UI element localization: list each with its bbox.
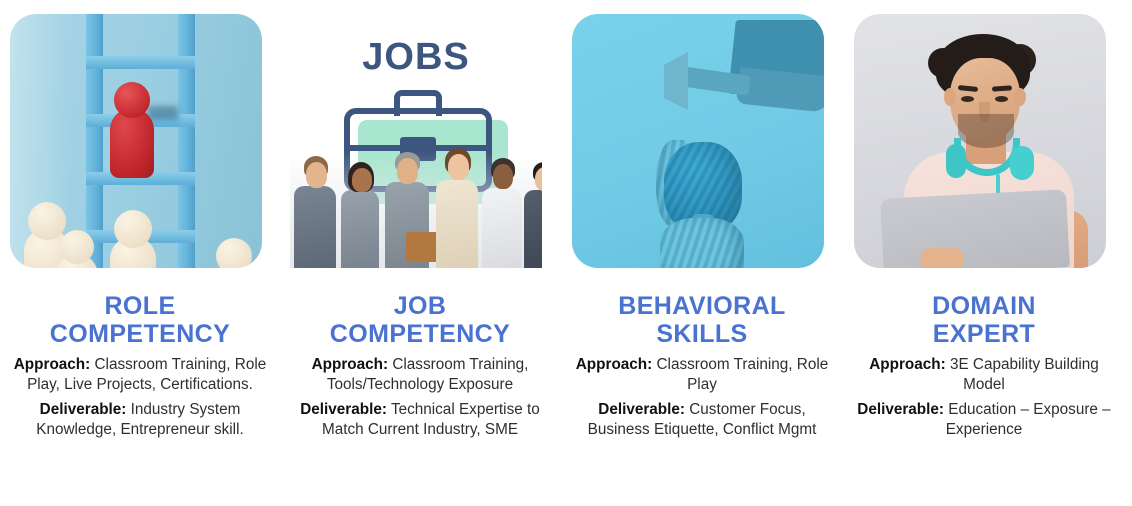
heading-line-1: DOMAIN <box>850 292 1118 320</box>
heading-line-2: EXPERT <box>850 320 1118 348</box>
peg-shadow <box>148 106 178 120</box>
deliverable-label: Deliverable: <box>40 401 127 418</box>
person-head <box>448 154 469 180</box>
column-heading-role-competency: ROLE COMPETENCY <box>6 292 274 348</box>
deliverable-text: Education – Exposure – Experience <box>944 401 1111 438</box>
man-eye <box>961 96 974 102</box>
column-heading-behavioral-skills: BEHAVIORAL SKILLS <box>568 292 836 348</box>
watering-can-brain-photo <box>572 14 824 268</box>
deliverable-paragraph: Deliverable: Education – Exposure – Expe… <box>852 400 1116 440</box>
deliverable-label: Deliverable: <box>857 401 944 418</box>
column-body-job-competency: Approach: Classroom Training, Tools/Tech… <box>288 355 552 445</box>
wood-peg-head <box>114 210 152 248</box>
person-body <box>341 190 379 268</box>
business-people-row <box>290 152 542 268</box>
man-hand <box>920 248 964 268</box>
red-peg-on-ladder-photo <box>10 14 262 268</box>
person-head <box>306 162 327 188</box>
person <box>522 158 542 268</box>
column-body-domain-expert: Approach: 3E Capability Building Model D… <box>852 355 1116 445</box>
approach-paragraph: Approach: Classroom Training, Role Play <box>570 355 834 395</box>
wood-peg-head <box>28 202 66 240</box>
approach-paragraph: Approach: 3E Capability Building Model <box>852 355 1116 395</box>
man-eye <box>995 96 1008 102</box>
deliverable-label: Deliverable: <box>300 401 387 418</box>
man-ear <box>944 88 956 106</box>
heading-line-2: COMPETENCY <box>6 320 274 348</box>
wood-peg-head <box>216 238 252 268</box>
jobs-briefcase-people-graphic: JOBS <box>290 14 542 268</box>
person <box>338 156 382 268</box>
deliverable-paragraph: Deliverable: Industry System Knowledge, … <box>8 400 272 440</box>
heading-line-1: JOB <box>286 292 554 320</box>
red-peg-head <box>114 82 150 118</box>
person <box>292 152 338 268</box>
person-head <box>352 168 372 192</box>
person-head <box>493 164 513 189</box>
person-body <box>482 188 522 268</box>
brain-lower-lobe <box>660 218 744 268</box>
person-head <box>397 158 418 184</box>
red-peg-body <box>110 108 154 178</box>
heading-line-2: COMPETENCY <box>286 320 554 348</box>
heading-line-1: BEHAVIORAL <box>568 292 836 320</box>
deliverable-paragraph: Deliverable: Technical Expertise to Matc… <box>288 400 552 440</box>
approach-label: Approach: <box>14 356 91 373</box>
person-body <box>436 180 478 268</box>
person-body <box>294 186 336 268</box>
skills-framework-infographic: ROLE COMPETENCY Approach: Classroom Trai… <box>0 0 1132 506</box>
watering-can-nozzle <box>664 52 688 110</box>
approach-paragraph: Approach: Classroom Training, Tools/Tech… <box>288 355 552 395</box>
column-job-competency: JOBS <box>280 0 560 506</box>
person <box>434 146 480 268</box>
jobs-graphic-title: JOBS <box>290 36 542 79</box>
approach-label: Approach: <box>312 356 389 373</box>
ladder-rung <box>86 56 195 69</box>
deliverable-label: Deliverable: <box>598 401 685 418</box>
wood-peg-head <box>60 230 94 264</box>
headphone-earcup <box>1010 146 1034 180</box>
laptop <box>880 189 1070 268</box>
heading-line-2: SKILLS <box>568 320 836 348</box>
person-head <box>535 167 542 191</box>
approach-label: Approach: <box>576 356 653 373</box>
person <box>480 154 524 268</box>
person-body <box>524 190 542 268</box>
approach-paragraph: Approach: Classroom Training, Role Play,… <box>8 355 272 395</box>
headphone-earcup <box>946 144 966 178</box>
column-body-behavioral-skills: Approach: Classroom Training, Role Play … <box>570 355 834 445</box>
column-heading-job-competency: JOB COMPETENCY <box>286 292 554 348</box>
approach-text: Classroom Training, Role Play <box>652 356 828 393</box>
column-behavioral-skills: BEHAVIORAL SKILLS Approach: Classroom Tr… <box>562 0 842 506</box>
man-with-laptop-photo <box>854 14 1106 268</box>
column-domain-expert: DOMAIN EXPERT Approach: 3E Capability Bu… <box>844 0 1124 506</box>
approach-text: 3E Capability Building Model <box>946 356 1099 393</box>
heading-line-1: ROLE <box>6 292 274 320</box>
deliverable-paragraph: Deliverable: Customer Focus, Business Et… <box>570 400 834 440</box>
column-body-role-competency: Approach: Classroom Training, Role Play,… <box>8 355 272 445</box>
column-role-competency: ROLE COMPETENCY Approach: Classroom Trai… <box>0 0 280 506</box>
approach-label: Approach: <box>869 356 946 373</box>
column-heading-domain-expert: DOMAIN EXPERT <box>850 292 1118 348</box>
person <box>382 150 432 268</box>
man-ear <box>1014 88 1026 106</box>
